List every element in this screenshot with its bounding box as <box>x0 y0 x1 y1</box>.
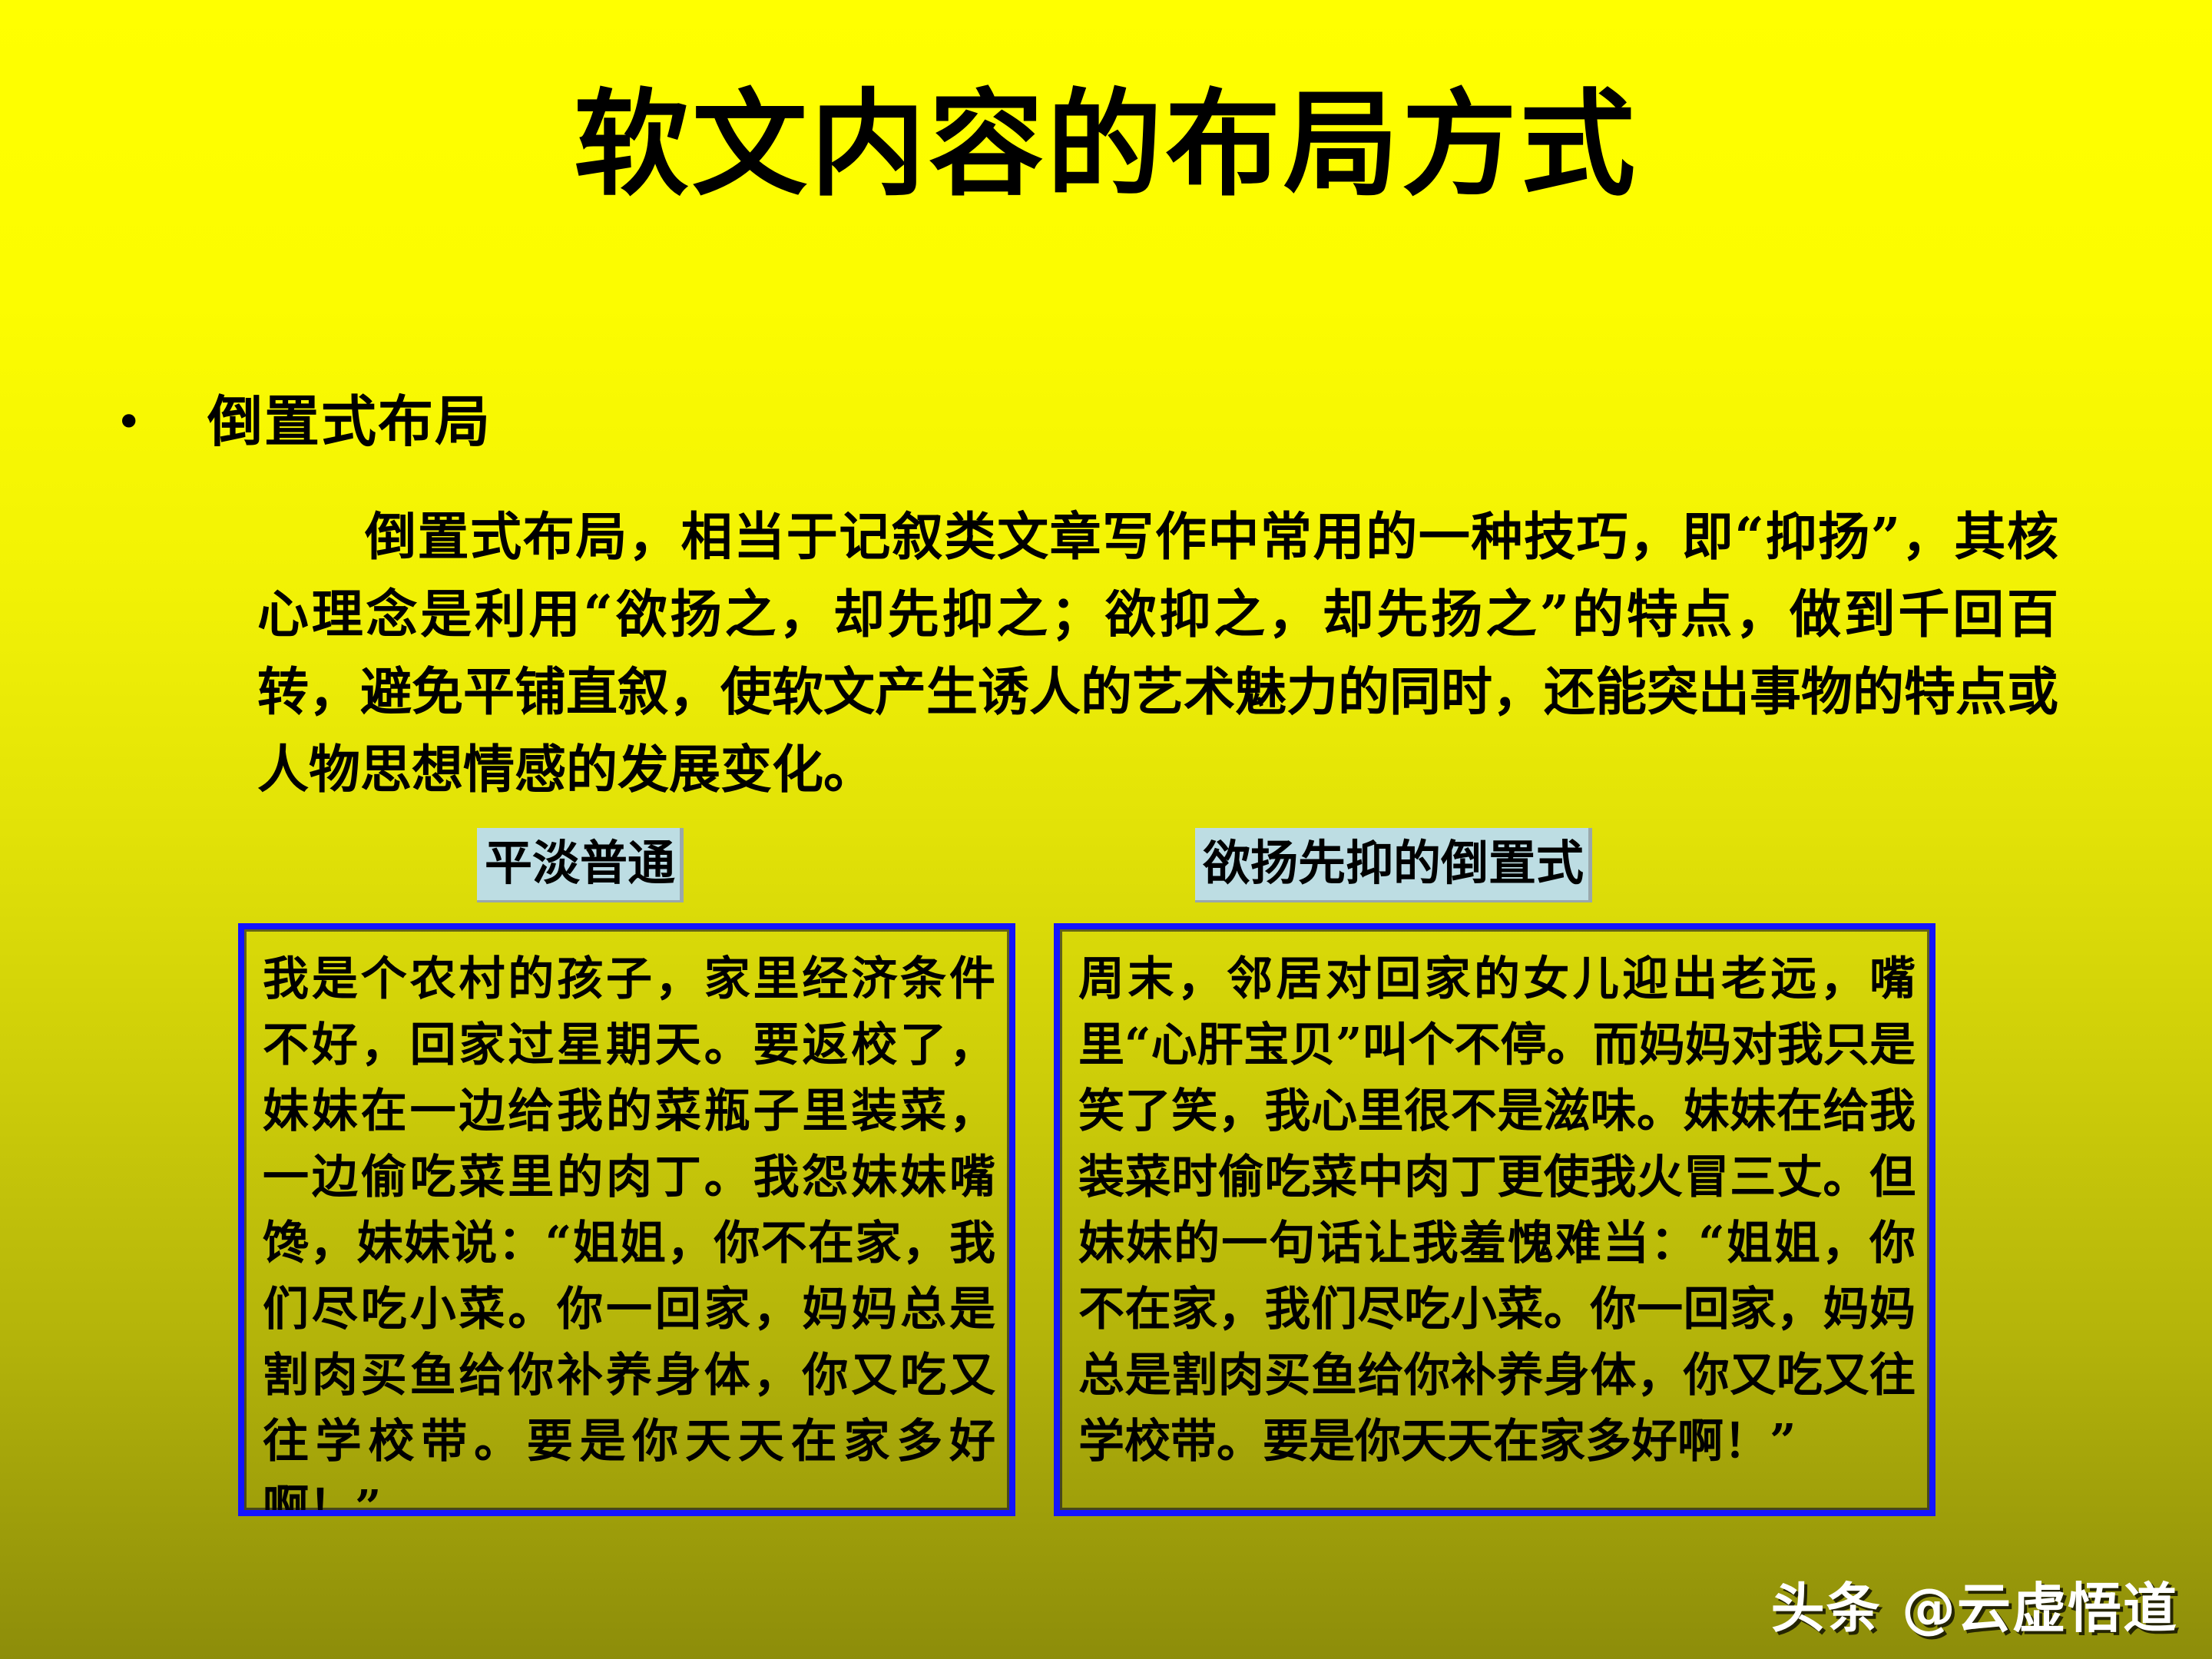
page-title: 软文内容的布局方式 <box>0 74 2212 218</box>
bullet-heading-row: • 倒置式布局 <box>115 388 2112 457</box>
watermark-label: 头条 @云虚悟道 <box>1771 1576 2178 1641</box>
example-textbox-inverted: 周末，邻居对回家的女儿迎出老远，嘴里“心肝宝贝”叫个不停。而妈妈对我只是笑了笑，… <box>1054 923 1936 1516</box>
slide-canvas: 软文内容的布局方式 • 倒置式布局 倒置式布局，相当于记叙类文章写作中常用的一种… <box>0 0 2212 1659</box>
example-textbox-plain: 我是个农村的孩子，家里经济条件不好，回家过星期天。要返校了，妹妹在一边给我的菜瓶… <box>238 923 1015 1516</box>
bullet-marker-icon: • <box>115 388 207 457</box>
column-label-plain: 平淡普通 <box>477 828 684 902</box>
bullet-heading-label: 倒置式布局 <box>207 388 492 455</box>
column-label-inverted: 欲扬先抑的倒置式 <box>1195 828 1592 902</box>
body-paragraph: 倒置式布局，相当于记叙类文章写作中常用的一种技巧，即“抑扬”，其核心理念是利用“… <box>257 498 2058 808</box>
